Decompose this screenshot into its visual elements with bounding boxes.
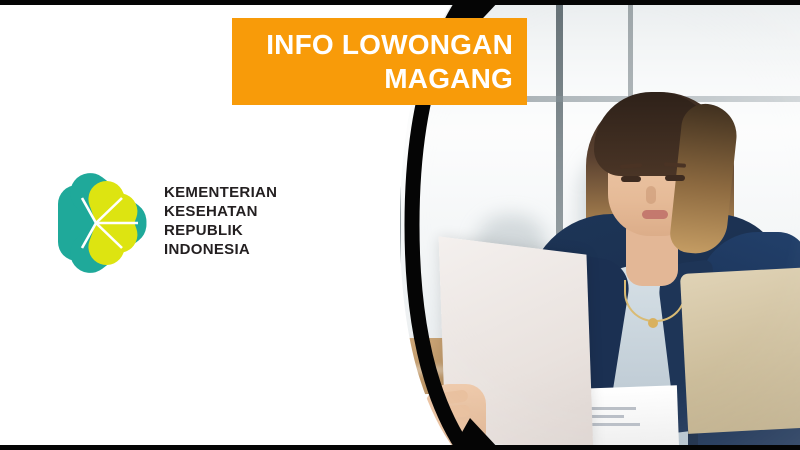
kemenkes-logo: KEMENTERIAN KESEHATAN REPUBLIK INDONESIA [52, 168, 277, 274]
logo-text-line-2: KESEHATAN [164, 202, 277, 221]
banner-line-1: INFO LOWONGAN [246, 28, 513, 62]
kemenkes-logo-mark [52, 168, 150, 274]
bottom-black-bar [0, 445, 800, 450]
top-black-bar [0, 0, 800, 5]
banner-line-2: MAGANG [246, 62, 513, 96]
info-banner: INFO LOWONGAN MAGANG [232, 18, 527, 105]
poster-canvas: INFO LOWONGAN MAGANG [0, 0, 800, 450]
logo-text-line-1: KEMENTERIAN [164, 183, 277, 202]
kemenkes-logo-text: KEMENTERIAN KESEHATAN REPUBLIK INDONESIA [164, 183, 277, 259]
logo-text-line-3: REPUBLIK [164, 221, 277, 240]
logo-text-line-4: INDONESIA [164, 240, 277, 259]
